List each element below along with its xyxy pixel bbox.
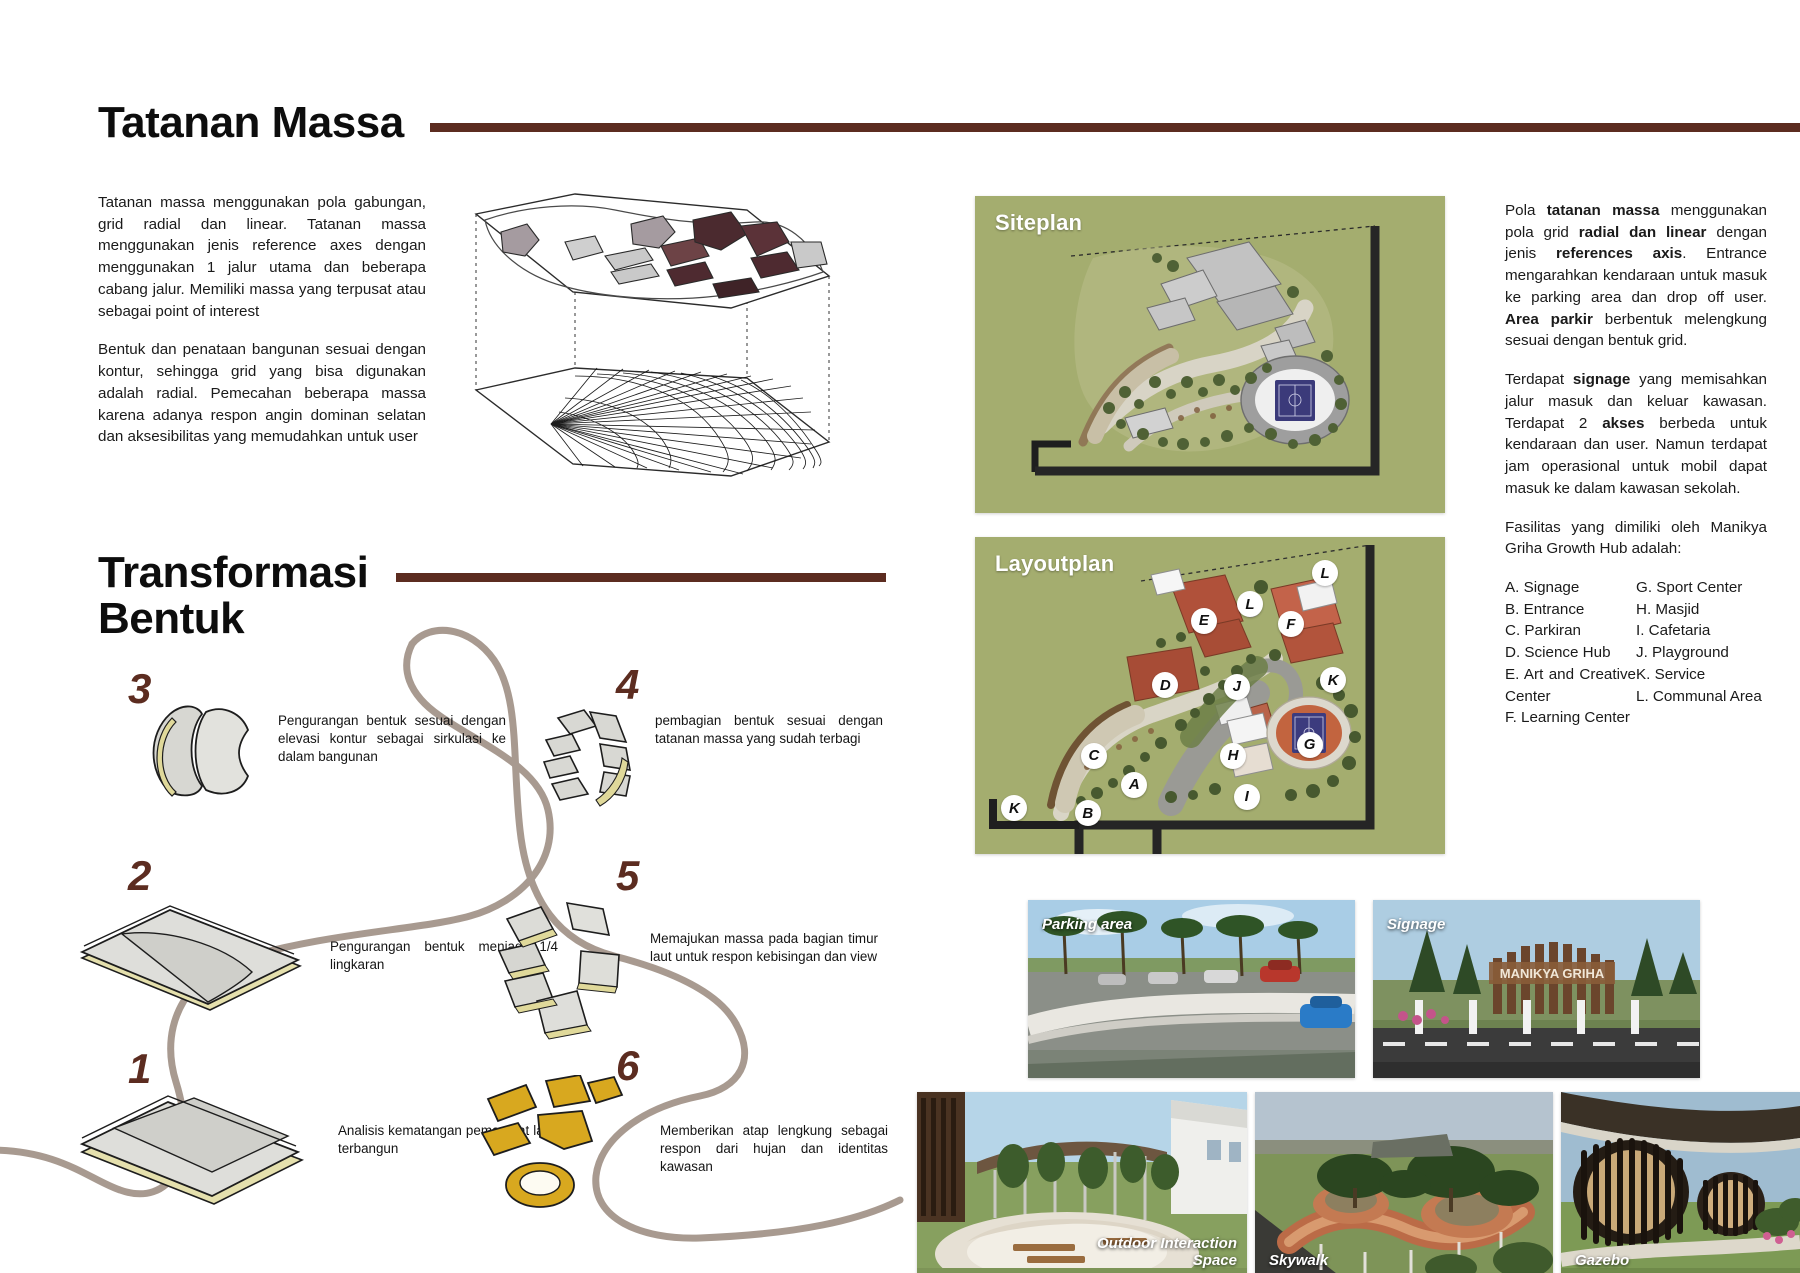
layoutplan-marker-f-2: F — [1278, 611, 1304, 637]
step-number-5: 5 — [616, 855, 639, 897]
photo-signage[interactable]: MANIKYA GRIHA Signage — [1373, 900, 1700, 1078]
layoutplan-marker-h-9: H — [1220, 743, 1246, 769]
photo-caption-skywalk: Skywalk — [1269, 1252, 1328, 1269]
step-number-2: 2 — [128, 855, 151, 897]
title-rule-transformasi — [396, 573, 886, 582]
layoutplan-marker-c-8: C — [1081, 743, 1107, 769]
photo-caption-outdoor-interaction-space: Outdoor Interaction Space — [1097, 1235, 1237, 1270]
facilities-items-a-to-f: A. Signage B. Entrance C. Parkiran D. Sc… — [1505, 577, 1636, 729]
layoutplan-marker-g-7: G — [1297, 732, 1323, 758]
layoutplan-marker-i-10: I — [1234, 784, 1260, 810]
paragraph-pola: Pola tatanan massa menggunakan pola grid… — [1505, 200, 1767, 352]
step-caption-3: Pengurangan bentuk sesuai dengan elevasi… — [278, 712, 506, 766]
siteplan-description: Pola tatanan massa menggunakan pola grid… — [1505, 200, 1767, 729]
paragraph-fasilitas: Fasilitas yang dimiliki oleh Manikya Gri… — [1505, 517, 1767, 560]
photo-outdoor-interaction-space[interactable]: Outdoor Interaction Space — [917, 1092, 1247, 1273]
photo-skywalk[interactable]: Skywalk — [1255, 1092, 1553, 1273]
grid-radial-diagram — [455, 180, 850, 510]
svg-text:MANIKYA GRIHA: MANIKYA GRIHA — [1500, 966, 1605, 981]
step-shape-5 — [495, 895, 645, 1040]
siteplan-label: Siteplan — [995, 210, 1082, 236]
photo-gazebo[interactable]: Gazebo — [1561, 1092, 1800, 1273]
siteplan-image[interactable]: Siteplan — [975, 196, 1445, 513]
layoutplan-marker-e-3: E — [1191, 608, 1217, 634]
facilities-column-left: A. Signage B. Entrance C. Parkiran D. Sc… — [1505, 577, 1636, 729]
photo-parking-area[interactable]: Parking area — [1028, 900, 1355, 1078]
photo-caption-signage: Signage — [1387, 916, 1445, 933]
title-rule-extension — [1780, 123, 1800, 132]
section-header-tatanan-massa: Tatanan Massa — [98, 100, 1790, 146]
photo-caption-parking-area: Parking area — [1042, 916, 1132, 933]
title-rule — [430, 123, 1790, 132]
step-caption-4: pembagian bentuk sesuai dengan tatanan m… — [655, 712, 883, 748]
photo-caption-gazebo: Gazebo — [1575, 1252, 1629, 1269]
step-shape-4 — [510, 700, 640, 810]
paragraph-signage: Terdapat signage yang memisahkan jalur m… — [1505, 369, 1767, 499]
facilities-items-g-to-l: G. Sport Center H. Masjid I. Cafetaria J… — [1636, 577, 1767, 707]
page-title-transformasi-bentuk: Transformasi Bentuk — [98, 550, 368, 642]
facilities-column-right: G. Sport Center H. Masjid I. Cafetaria J… — [1636, 577, 1767, 729]
step-shape-6 — [480, 1075, 655, 1220]
step-number-1: 1 — [128, 1048, 151, 1090]
presentation-board: Tatanan Massa Tatanan massa menggunakan … — [0, 0, 1800, 1273]
step-caption-5: Memajukan massa pada bagian timur laut u… — [650, 930, 878, 966]
layoutplan-label: Layoutplan — [995, 551, 1114, 577]
layoutplan-image[interactable]: Layoutplan — [975, 537, 1445, 854]
layoutplan-marker-l-1: L — [1237, 591, 1263, 617]
step-shape-3 — [140, 700, 260, 800]
step-shape-2 — [62, 900, 322, 1030]
paragraph-2: Bentuk dan penataan bangunan sesuai deng… — [98, 339, 426, 448]
step-caption-6: Memberikan atap lengkung sebagai respon … — [660, 1122, 888, 1176]
page-title-tatanan-massa: Tatanan Massa — [98, 100, 404, 146]
paragraph-1: Tatanan massa menggunakan pola gabungan,… — [98, 192, 426, 322]
step-shape-1 — [62, 1088, 322, 1218]
layoutplan-marker-j-6: J — [1224, 674, 1250, 700]
facilities-legend: A. Signage B. Entrance C. Parkiran D. Sc… — [1505, 577, 1767, 729]
tatanan-massa-description: Tatanan massa menggunakan pola gabungan,… — [98, 192, 426, 465]
section-header-transformasi-bentuk: Transformasi Bentuk — [98, 550, 886, 642]
